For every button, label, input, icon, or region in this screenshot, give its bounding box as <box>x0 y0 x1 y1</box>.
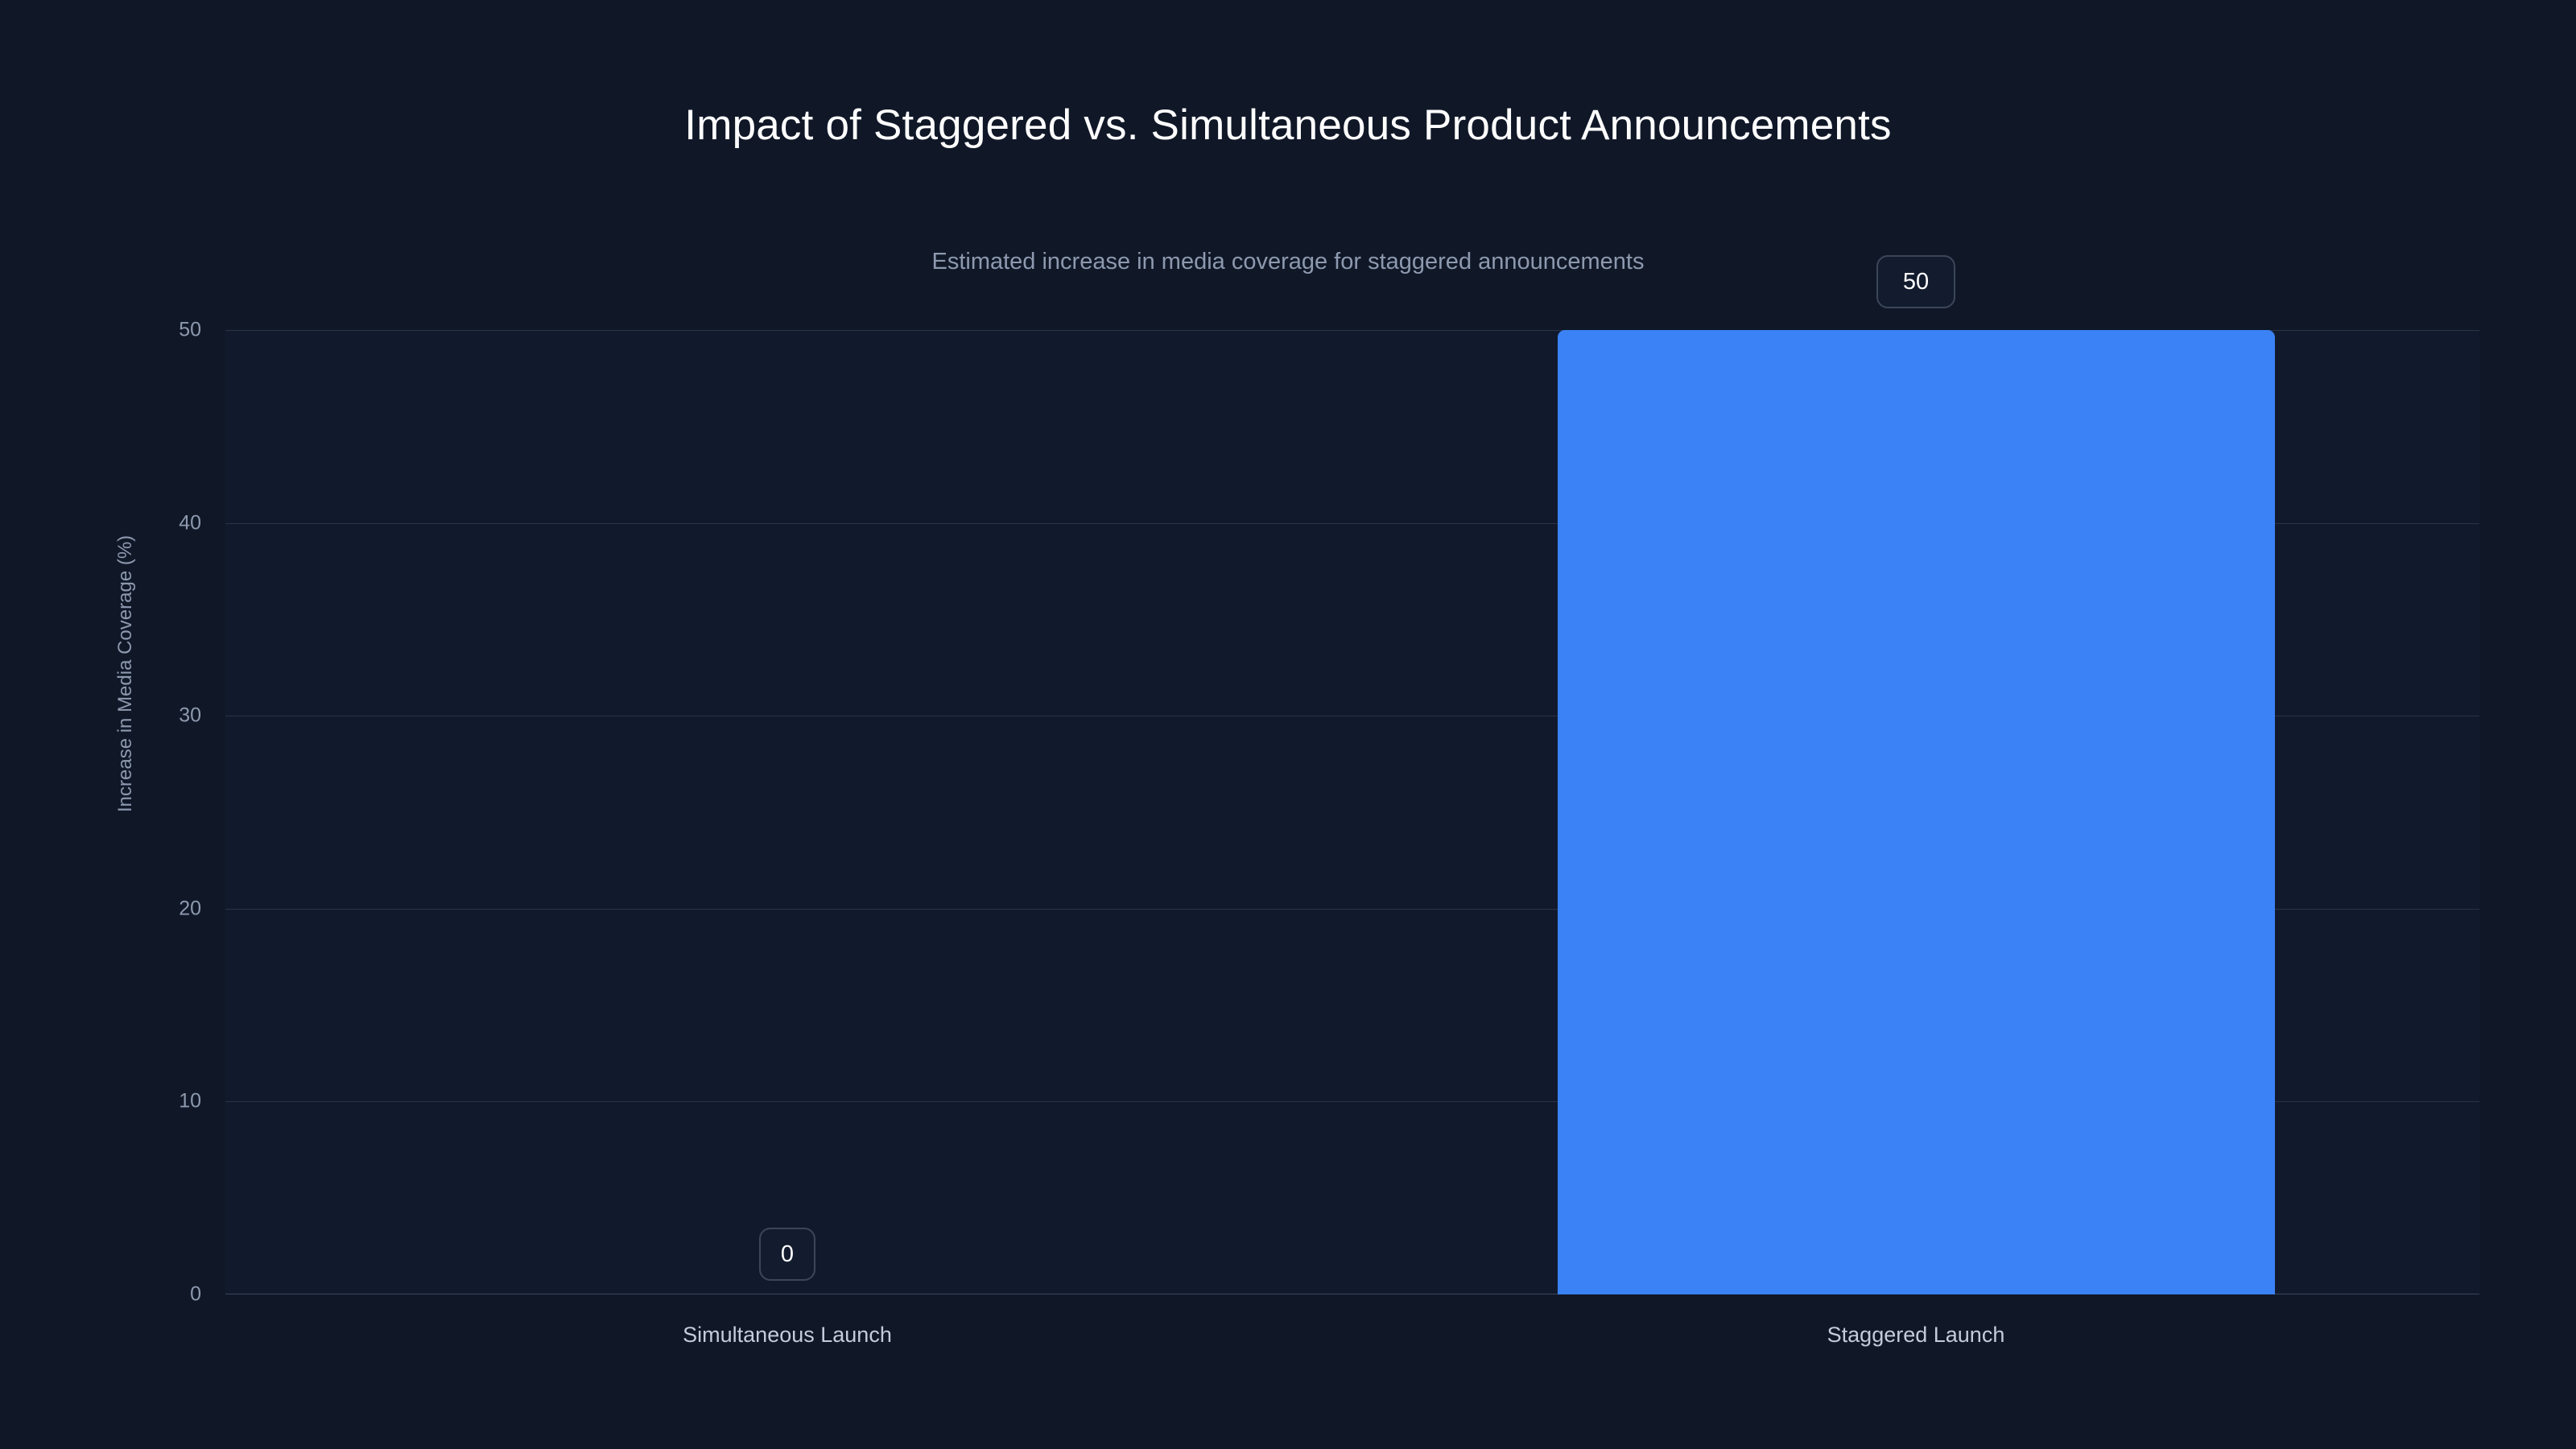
y-tick-label-30: 30 <box>113 704 201 728</box>
value-badge-simultaneous-launch: 0 <box>759 1228 815 1281</box>
chart-title: Impact of Staggered vs. Simultaneous Pro… <box>0 101 2576 150</box>
chart-subtitle: Estimated increase in media coverage for… <box>0 249 2576 275</box>
y-axis-title: Increase in Media Coverage (%) <box>114 535 137 812</box>
value-badge-staggered-launch: 50 <box>1876 255 1955 308</box>
chart-figure: Impact of Staggered vs. Simultaneous Pro… <box>0 0 2576 1449</box>
x-tick-label-staggered-launch: Staggered Launch <box>1827 1323 2005 1348</box>
plot-area <box>225 330 2479 1294</box>
y-tick-label-50: 50 <box>113 319 201 342</box>
y-tick-label-0: 0 <box>113 1283 201 1307</box>
y-tick-label-40: 40 <box>113 511 201 535</box>
bar-staggered-launch[interactable] <box>1558 330 2275 1294</box>
x-tick-label-simultaneous-launch: Simultaneous Launch <box>683 1323 892 1348</box>
y-tick-label-20: 20 <box>113 897 201 920</box>
y-tick-label-10: 10 <box>113 1090 201 1113</box>
